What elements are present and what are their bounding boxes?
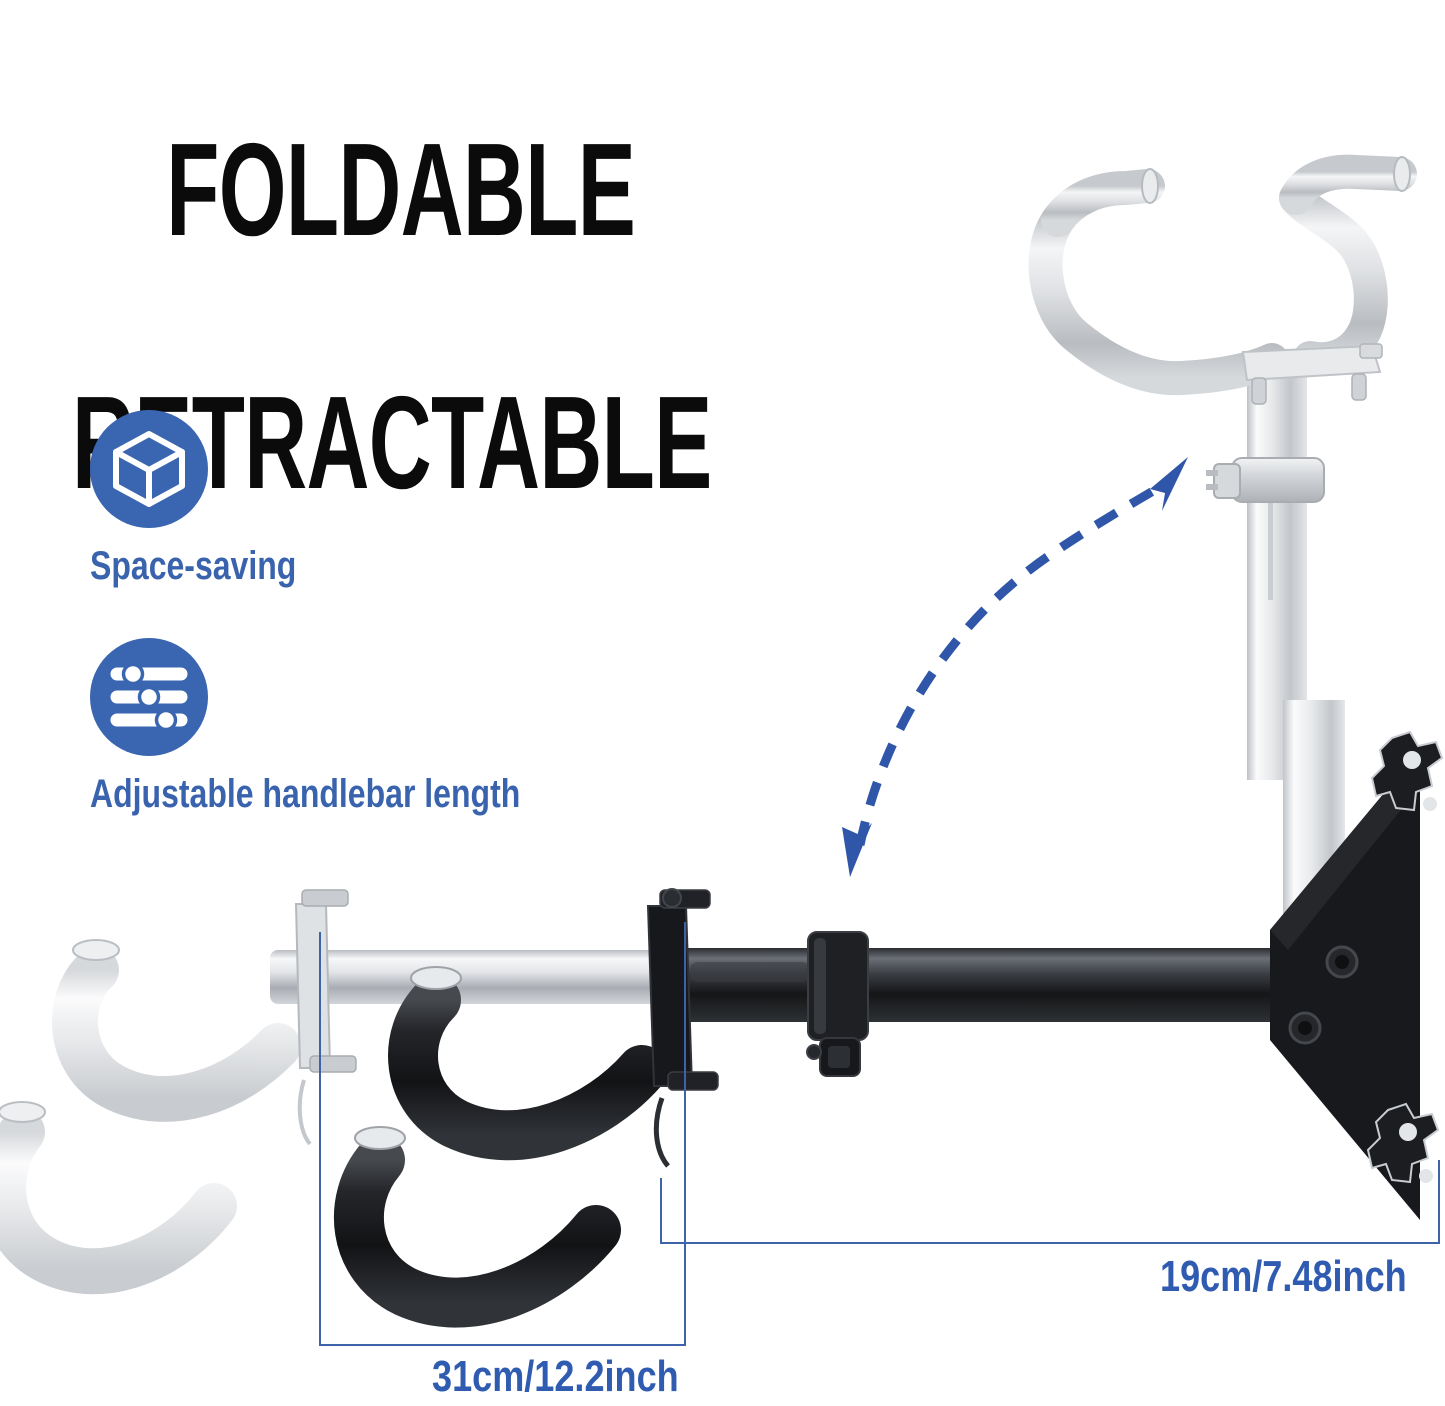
dimension-guide-line xyxy=(319,932,321,1346)
dimension-guide-line xyxy=(319,1344,686,1346)
feature-icon-badge xyxy=(90,410,208,528)
headline-line-1: FOLDABLE xyxy=(166,116,635,263)
dimension-label-depth: 19cm/7.48inch xyxy=(1160,1252,1407,1302)
tube-clamp-collar xyxy=(807,932,868,1076)
dimension-guide-line xyxy=(660,1178,662,1244)
hook-mount-flange xyxy=(648,889,718,1166)
retracted-position-ghost xyxy=(0,940,278,1271)
cube-box-icon xyxy=(112,430,186,508)
dimension-guide-line xyxy=(660,1242,1440,1244)
dimension-guide-line xyxy=(684,922,686,1346)
product-marketing-image: FOLDABLE RETRACTABLE Space-saving xyxy=(0,0,1445,1406)
dimension-label-width: 31cm/12.2inch xyxy=(432,1352,679,1402)
black-handlebar-hooks xyxy=(355,967,642,1303)
dimension-guide-line xyxy=(1438,1160,1440,1244)
feature-label: Space-saving xyxy=(90,544,296,589)
feature-space-saving: Space-saving xyxy=(90,410,348,589)
